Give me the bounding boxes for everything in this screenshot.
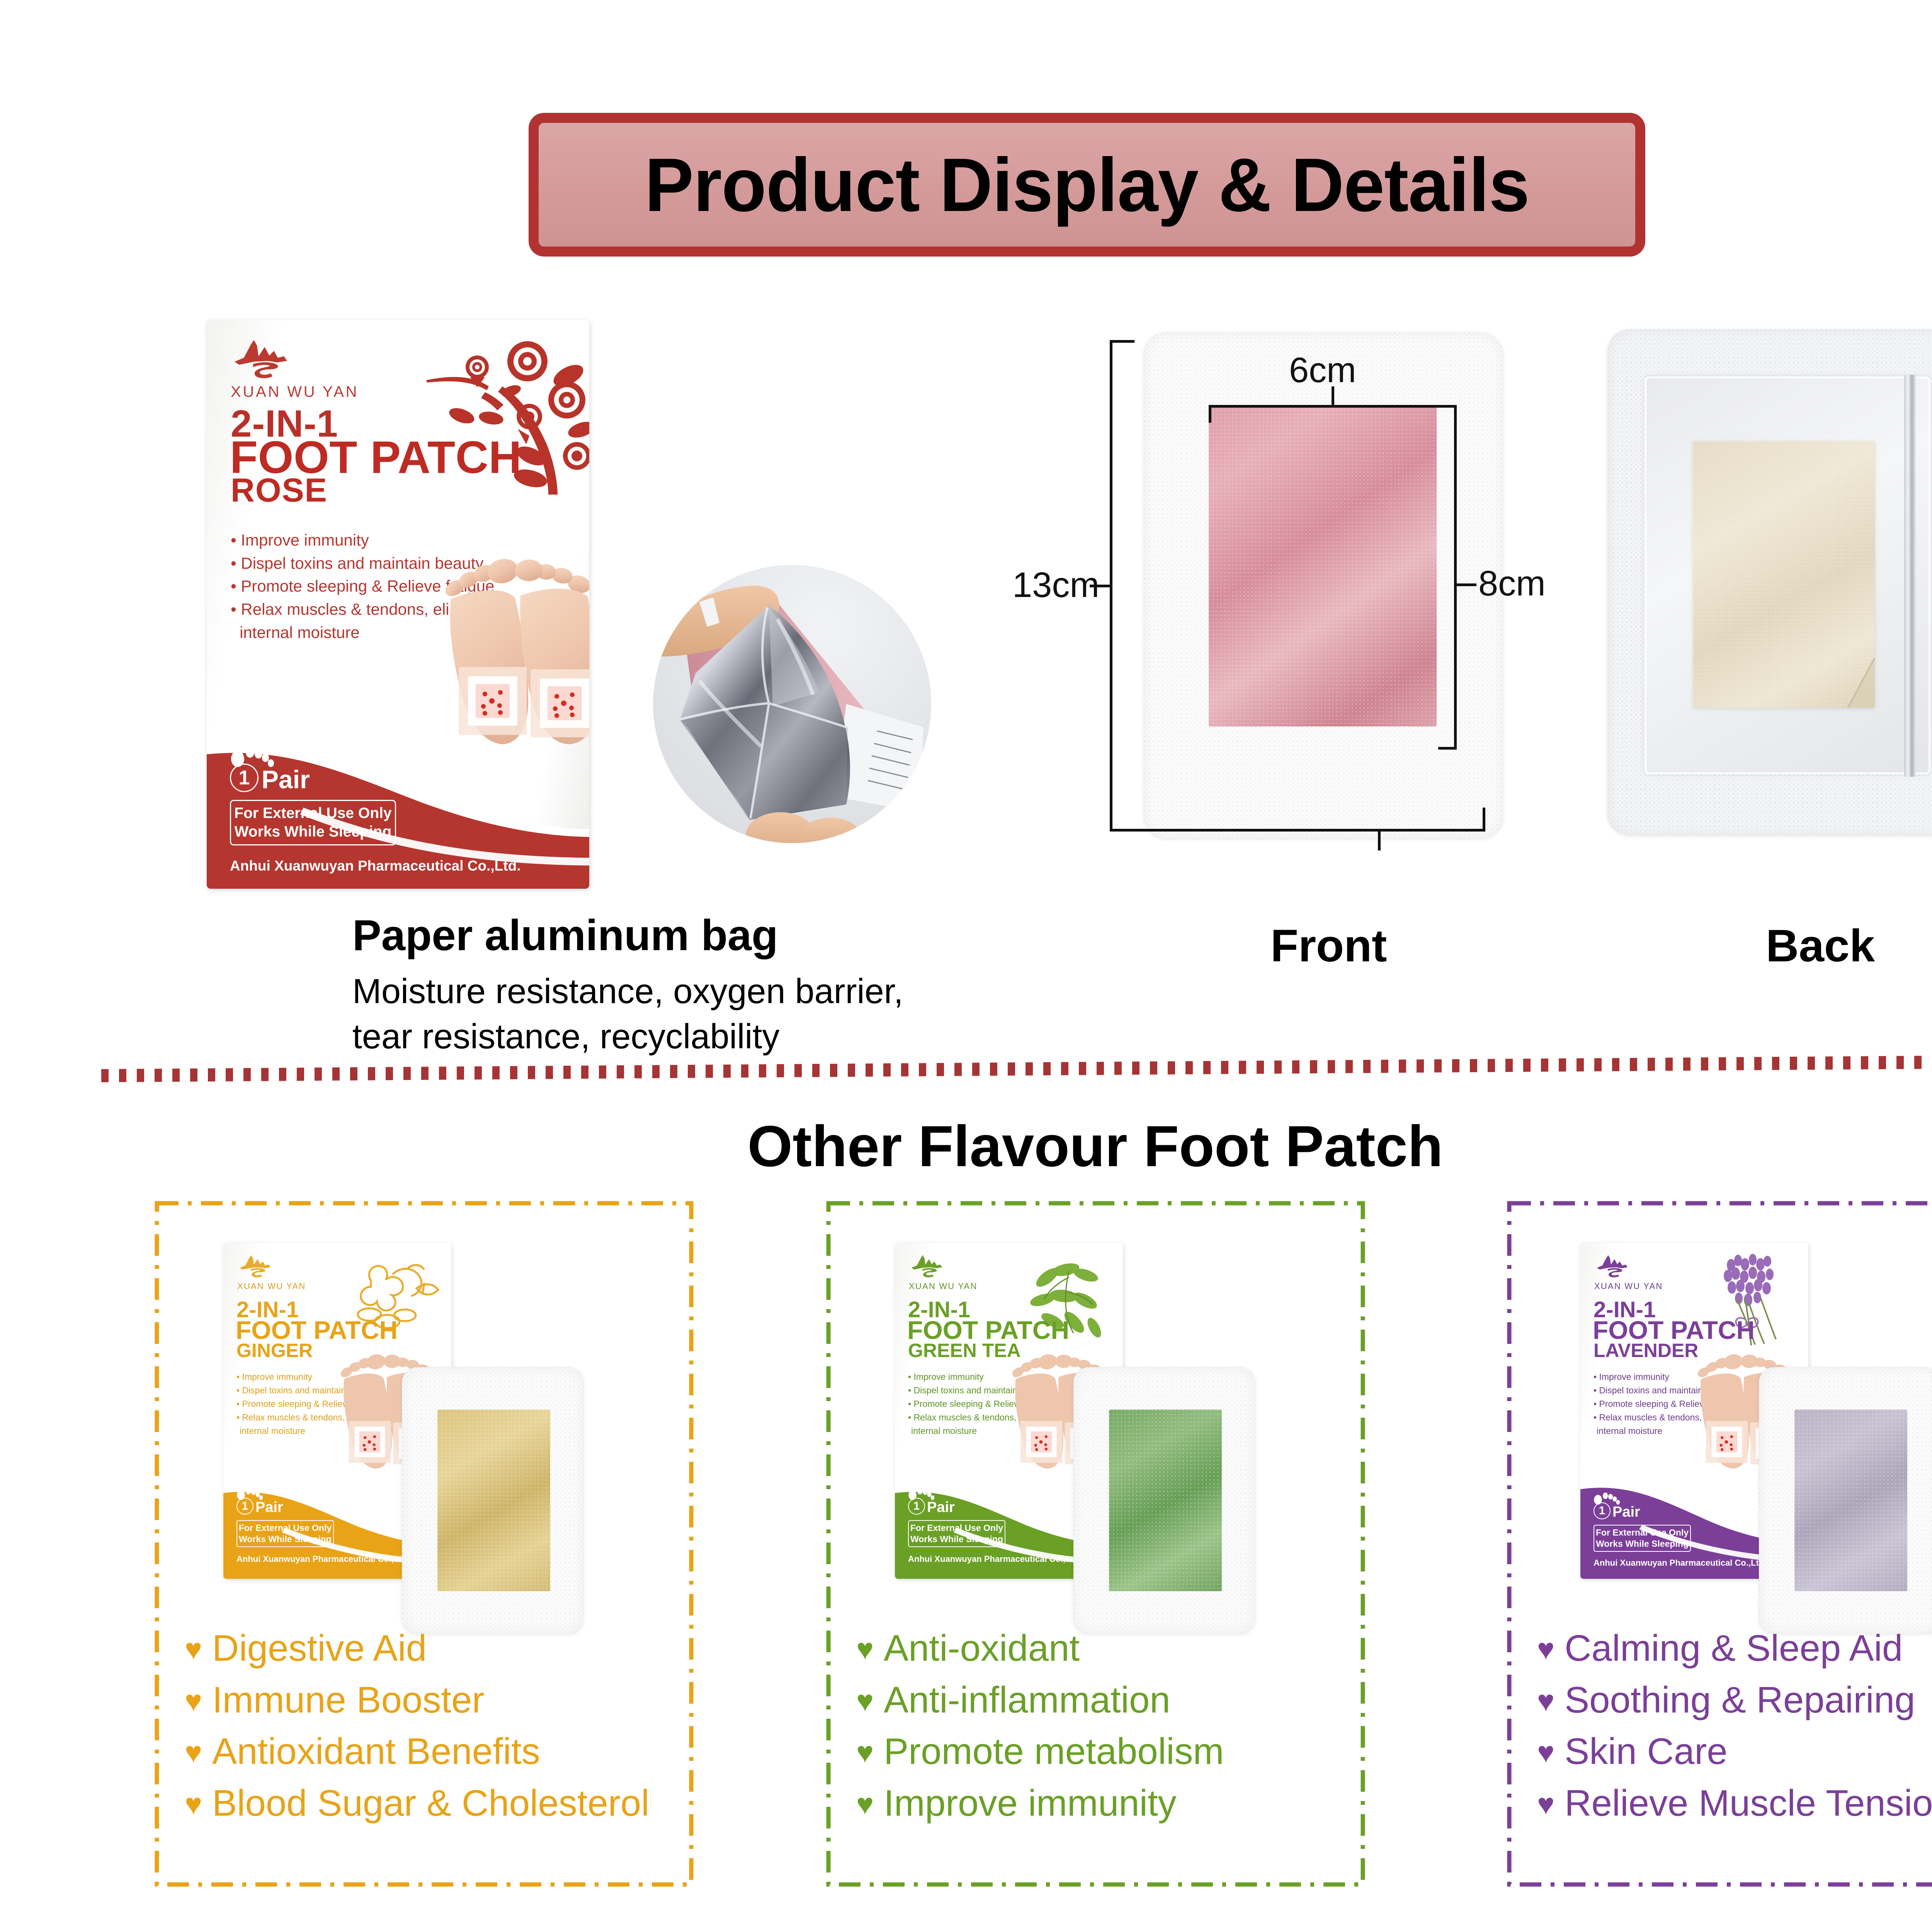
- dim-13cm-baseline-tick: [1378, 829, 1381, 850]
- rose-package-image: XUAN WU YAN 2-IN-1 FOOT PATCH ROSE • Imp…: [207, 320, 589, 889]
- other-flavours-title: Other Flavour Foot Patch: [0, 1113, 1932, 1180]
- benefit-row: ♥ Calming & Sleep Aid: [1537, 1622, 1932, 1674]
- dim-13cm-baseline-right-tick: [1483, 808, 1485, 832]
- pair-badge: 1 Pair: [236, 1498, 283, 1515]
- footprint-icon: [1592, 1492, 1622, 1522]
- heart-icon: ♥: [185, 1790, 202, 1819]
- benefit-row: ♥ Skin Care: [1537, 1726, 1932, 1777]
- usage-line-2: Works While Sleeping: [237, 1534, 333, 1545]
- usage-line-2: Works While Sleeping: [231, 823, 395, 841]
- benefit-text: Antioxidant Benefits: [212, 1726, 540, 1777]
- benefit-text: Anti-oxidant: [884, 1622, 1080, 1674]
- benefit-row: ♥ Relieve Muscle Tension: [1537, 1777, 1932, 1829]
- footprint-icon: [228, 746, 277, 796]
- usage-line-1: For External Use Only: [1594, 1527, 1690, 1538]
- package-flavour: GINGER: [236, 1339, 313, 1362]
- footprint-icon: [235, 1487, 265, 1518]
- package-flavour: ROSE: [231, 471, 328, 510]
- pair-badge: 1 Pair: [908, 1498, 955, 1515]
- page-title: Product Display & Details: [645, 141, 1529, 228]
- benefit-text: Promote metabolism: [884, 1726, 1224, 1777]
- company-name: Anhui Xuanwuyan Pharmaceutical Co.,Ltd.: [908, 1554, 1081, 1564]
- dim-13cm-bracket-top: [1110, 340, 1134, 343]
- mountain-river-logo-icon: [1594, 1254, 1633, 1279]
- dim-8cm-label: 8cm: [1478, 563, 1546, 604]
- heart-icon: ♥: [1537, 1687, 1554, 1716]
- heart-icon: ♥: [185, 1687, 202, 1716]
- benefit-row: ♥ Soothing & Repairing: [1537, 1674, 1932, 1726]
- brand-name: XUAN WU YAN: [237, 1281, 306, 1291]
- benefit-row: ♥ Immune Booster: [185, 1674, 683, 1726]
- usage-note-box: For External Use Only Works While Sleepi…: [236, 1520, 334, 1547]
- benefit-row: ♥ Promote metabolism: [856, 1726, 1355, 1777]
- mountain-river-logo-icon: [909, 1254, 947, 1279]
- flavour-card-lavender: XUAN WU YAN 2-IN-1 FOOT PATCH LAVENDER •…: [1507, 1201, 1932, 1887]
- green-tea-patch-core: [1109, 1410, 1222, 1591]
- heart-icon: ♥: [856, 1738, 874, 1767]
- package-flavour: LAVENDER: [1594, 1339, 1698, 1362]
- mylar-bag-photo: [653, 565, 931, 843]
- bag-caption-line-1: Moisture resistance, oxygen barrier,: [352, 969, 903, 1014]
- ginger-patch-core: [437, 1410, 550, 1591]
- heart-icon: ♥: [185, 1635, 202, 1664]
- company-name: Anhui Xuanwuyan Pharmaceutical Co.,Ltd.: [230, 858, 520, 874]
- usage-note-box: For External Use Only Works While Sleepi…: [230, 800, 396, 845]
- dim-8cm-tick-top: [1438, 405, 1457, 408]
- heart-icon: ♥: [185, 1738, 202, 1767]
- brand-name: XUAN WU YAN: [1594, 1281, 1663, 1291]
- pair-badge: 1 Pair: [230, 764, 310, 792]
- heart-icon: ♥: [1537, 1790, 1554, 1819]
- green-tea-patch-photo: [1073, 1367, 1255, 1634]
- page-title-banner: Product Display & Details: [529, 113, 1645, 257]
- usage-line-2: Works While Sleeping: [909, 1534, 1005, 1545]
- benefit-row: ♥ Digestive Aid: [185, 1622, 683, 1674]
- benefit-row: ♥ Anti-oxidant: [856, 1622, 1355, 1674]
- benefit-text: Skin Care: [1565, 1726, 1728, 1777]
- flavour-card-ginger: XUAN WU YAN 2-IN-1 FOOT PATCH GINGER • I…: [155, 1201, 694, 1887]
- lavender-patch-photo: [1759, 1367, 1932, 1634]
- dim-13cm-label: 13cm: [1012, 565, 1099, 605]
- heart-icon: ♥: [856, 1635, 874, 1664]
- company-name: Anhui Xuanwuyan Pharmaceutical Co.,Ltd.: [1594, 1558, 1766, 1568]
- heart-icon: ♥: [1537, 1738, 1554, 1767]
- benefit-text: Blood Sugar & Cholesterol: [212, 1777, 649, 1829]
- mountain-river-logo-icon: [231, 338, 296, 381]
- usage-line-2: Works While Sleeping: [1594, 1538, 1690, 1549]
- front-label: Front: [1270, 920, 1387, 972]
- benefit-item: • Improve immunity: [231, 529, 498, 552]
- dim-13cm-baseline: [1110, 829, 1380, 832]
- bag-caption-description: Moisture resistance, oxygen barrier, tea…: [352, 969, 903, 1060]
- benefit-text: Relieve Muscle Tension: [1565, 1777, 1932, 1829]
- dim-8cm-bracket: [1454, 405, 1457, 750]
- benefit-row: ♥ Improve immunity: [856, 1777, 1355, 1829]
- footprint-icon: [907, 1487, 936, 1518]
- ginger-benefit-list: ♥ Digestive Aid ♥ Immune Booster ♥ Antio…: [185, 1622, 683, 1829]
- back-patch-core: [1693, 441, 1875, 708]
- dim-13cm-baseline-right: [1378, 829, 1485, 832]
- benefit-text: Digestive Aid: [212, 1622, 427, 1674]
- benefit-text: Immune Booster: [212, 1674, 484, 1726]
- heart-icon: ♥: [856, 1687, 874, 1716]
- mountain-river-logo-icon: [237, 1254, 276, 1279]
- usage-line-1: For External Use Only: [237, 1522, 333, 1534]
- pair-badge: 1 Pair: [1594, 1502, 1640, 1519]
- brand-name: XUAN WU YAN: [909, 1281, 977, 1291]
- back-patch-photo: [1607, 329, 1932, 835]
- back-label: Back: [1766, 920, 1875, 972]
- benefit-row: ♥ Anti-inflammation: [856, 1674, 1355, 1726]
- heart-icon: ♥: [856, 1790, 874, 1819]
- dim-6cm-tick-left: [1209, 405, 1211, 423]
- product-display-page: Product Display & Details: [0, 0, 1932, 1932]
- lavender-patch-core: [1794, 1410, 1907, 1591]
- front-patch-core: [1209, 406, 1437, 726]
- usage-line-1: For External Use Only: [231, 804, 395, 823]
- brand-name: XUAN WU YAN: [231, 383, 359, 401]
- lavender-benefit-list: ♥ Calming & Sleep Aid ♥ Soothing & Repai…: [1537, 1622, 1932, 1829]
- brand-logo: XUAN WU YAN: [231, 338, 359, 401]
- flavour-card-green-tea: XUAN WU YAN 2-IN-1 FOOT PATCH GREEN TEA …: [826, 1201, 1365, 1887]
- benefit-text: Calming & Sleep Aid: [1565, 1622, 1903, 1674]
- hand-holding-bag-illustration: [653, 565, 931, 843]
- benefit-text: Improve immunity: [884, 1777, 1177, 1829]
- usage-note-box: For External Use Only Works While Sleepi…: [908, 1520, 1005, 1547]
- back-patch-foil-strip: [1904, 375, 1916, 777]
- benefit-row: ♥ Blood Sugar & Cholesterol: [185, 1777, 683, 1829]
- green-tea-benefit-list: ♥ Anti-oxidant ♥ Anti-inflammation ♥ Pro…: [856, 1622, 1355, 1829]
- front-patch-photo: [1144, 332, 1503, 838]
- usage-note-box: For External Use Only Works While Sleepi…: [1594, 1525, 1691, 1552]
- heart-icon: ♥: [1537, 1635, 1554, 1664]
- ginger-patch-photo: [402, 1367, 583, 1634]
- dim-8cm-tick-center: [1454, 583, 1476, 586]
- company-name: Anhui Xuanwuyan Pharmaceutical Co.,Ltd.: [236, 1554, 409, 1564]
- dim-8cm-tick-bottom: [1438, 747, 1457, 750]
- benefit-row: ♥ Antioxidant Benefits: [185, 1726, 683, 1777]
- benefit-text: Soothing & Repairing: [1565, 1674, 1915, 1726]
- benefit-text: Anti-inflammation: [884, 1674, 1170, 1726]
- dim-6cm-label: 6cm: [1289, 350, 1356, 391]
- usage-line-1: For External Use Only: [909, 1522, 1005, 1534]
- bag-caption-title: Paper aluminum bag: [352, 910, 778, 960]
- bag-caption-line-2: tear resistance, recyclability: [352, 1014, 903, 1060]
